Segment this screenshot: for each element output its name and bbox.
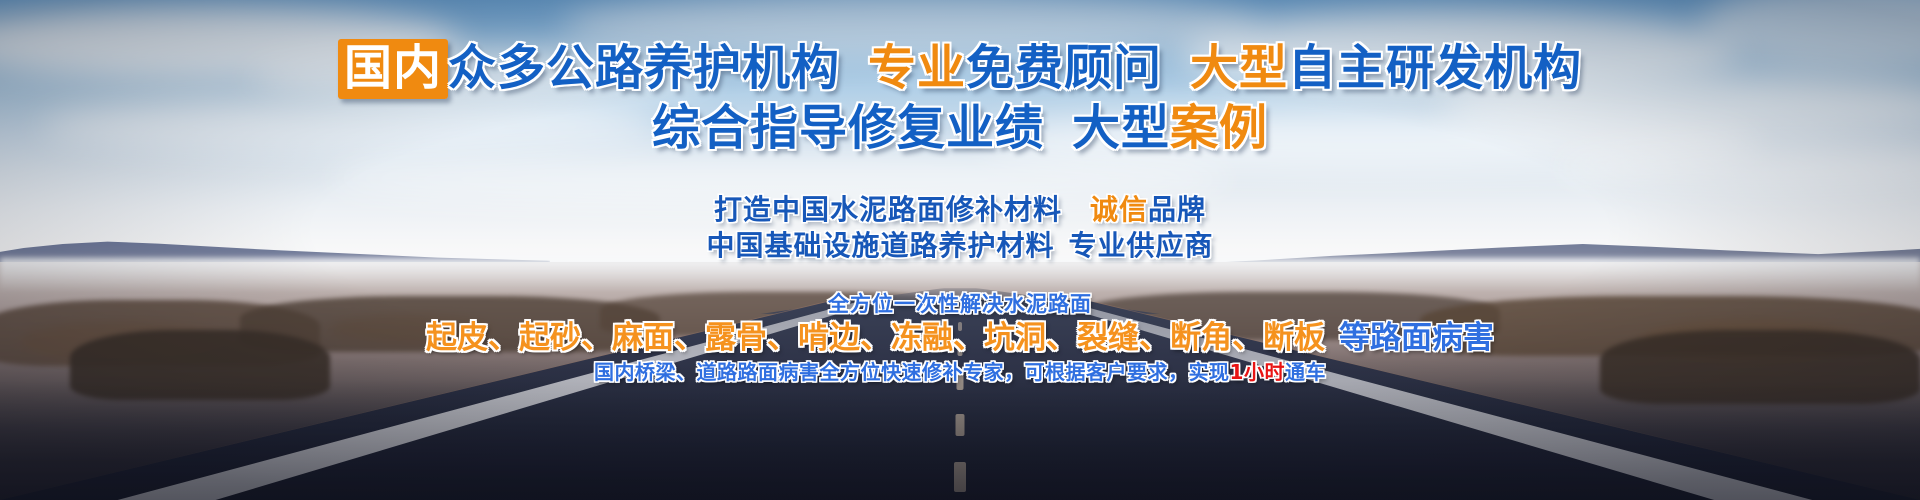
text-run: 打造中国水泥路面修补材料 [714,193,1062,226]
subheadline-line-1: 打造中国水泥路面修补材料诚信品牌 [0,192,1920,228]
text-run: 1小时 [1230,360,1285,384]
text-run: 自主研发机构 [1288,40,1582,96]
text-run: 专业供应商 [1069,229,1214,262]
headline-line-2: 综合指导修复业绩大型案例 [0,100,1920,156]
text-run: 免费顾问 [966,40,1162,96]
text-run: 国内桥梁、道路路面病害全方位快速修补专家，可根据客户要求，实现 [594,360,1230,384]
promo-banner: 国内众多公路养护机构专业免费顾问大型自主研发机构 综合指导修复业绩大型案例 打造… [0,0,1920,500]
text-run: 大型 [1190,40,1288,96]
text-run: 专业 [868,40,966,96]
text-run: 众多公路养护机构 [448,40,840,96]
text-run: 案例 [1170,100,1268,156]
footer-line-1: 全方位一次性解决水泥路面 [0,290,1920,318]
text-run: 起皮、起砂、麻面、露骨、啃边、冻融、坑洞、裂缝、断角、断板 [426,320,1325,356]
text-run: 国内 [338,39,448,99]
text-run: 诚信 [1090,193,1148,226]
text-run: 综合指导修复业绩 [652,100,1044,156]
footer-line-2: 起皮、起砂、麻面、露骨、啃边、冻融、坑洞、裂缝、断角、断板等路面病害 [0,318,1920,358]
text-run: 全方位一次性解决水泥路面 [828,292,1092,316]
text-run: 中国基础设施道路养护材料 [706,229,1054,262]
headline-line-1: 国内众多公路养护机构专业免费顾问大型自主研发机构 [0,40,1920,96]
text-run: 大型 [1072,100,1170,156]
text-run: 品牌 [1148,193,1206,226]
subheadline-line-2: 中国基础设施道路养护材料专业供应商 [0,228,1920,264]
footer-line-3: 国内桥梁、道路路面病害全方位快速修补专家，可根据客户要求，实现1小时通车 [0,358,1920,386]
banner-text-content: 国内众多公路养护机构专业免费顾问大型自主研发机构 综合指导修复业绩大型案例 打造… [0,0,1920,500]
text-run: 通车 [1285,360,1326,384]
text-run: 等路面病害 [1339,320,1494,356]
